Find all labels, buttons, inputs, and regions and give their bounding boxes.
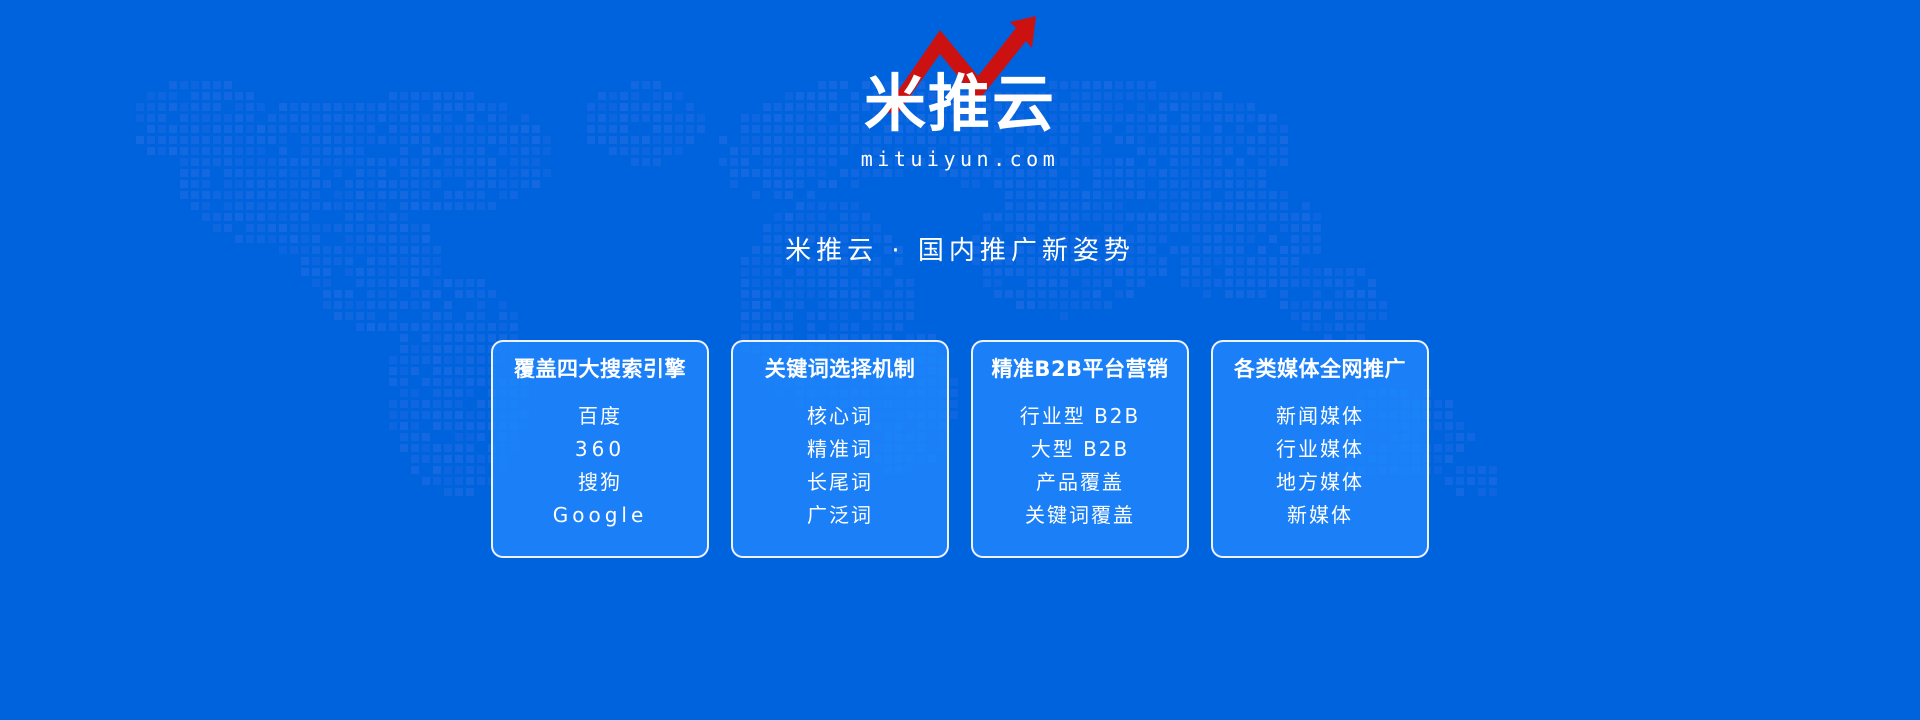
- feature-card-item-list: 新闻媒体行业媒体地方媒体新媒体: [1276, 403, 1364, 529]
- feature-card[interactable]: 覆盖四大搜索引擎百度360搜狗Google: [491, 340, 709, 558]
- feature-card-item: 地方媒体: [1276, 469, 1364, 496]
- logo-mark: 米推云 mituiyun.com: [830, 8, 1090, 173]
- feature-card-title: 覆盖四大搜索引擎: [514, 358, 686, 381]
- feature-card-item: Google: [553, 502, 648, 529]
- logo-block: 米推云 mituiyun.com: [0, 8, 1920, 173]
- feature-card[interactable]: 精准B2B平台营销行业型 B2B大型 B2B产品覆盖关键词覆盖: [971, 340, 1189, 558]
- feature-card-item: 新媒体: [1287, 502, 1353, 529]
- brand-name-cn: 米推云: [830, 73, 1090, 135]
- feature-card-item: 精准词: [807, 436, 873, 463]
- feature-card-item: 关键词覆盖: [1025, 502, 1135, 529]
- feature-card-item-list: 百度360搜狗Google: [553, 403, 648, 529]
- feature-card-item: 新闻媒体: [1276, 403, 1364, 430]
- feature-card[interactable]: 各类媒体全网推广新闻媒体行业媒体地方媒体新媒体: [1211, 340, 1429, 558]
- tagline: 米推云 · 国内推广新姿势: [0, 230, 1920, 267]
- feature-card-item: 360: [575, 436, 625, 463]
- feature-card-title: 各类媒体全网推广: [1234, 358, 1406, 381]
- promo-banner: 米推云 mituiyun.com 米推云 · 国内推广新姿势 覆盖四大搜索引擎百…: [0, 0, 1920, 720]
- feature-card-item: 行业媒体: [1276, 436, 1364, 463]
- feature-card-title: 关键词选择机制: [765, 358, 916, 381]
- feature-card-item: 大型 B2B: [1031, 436, 1130, 463]
- feature-card-title: 精准B2B平台营销: [991, 358, 1168, 381]
- feature-card-item-list: 核心词精准词长尾词广泛词: [807, 403, 873, 529]
- feature-card-item: 核心词: [807, 403, 873, 430]
- feature-card-item: 搜狗: [578, 469, 622, 496]
- brand-url: mituiyun.com: [830, 147, 1090, 171]
- feature-card-item: 广泛词: [807, 502, 873, 529]
- feature-card-item: 行业型 B2B: [1020, 403, 1141, 430]
- feature-card-row: 覆盖四大搜索引擎百度360搜狗Google关键词选择机制核心词精准词长尾词广泛词…: [0, 340, 1920, 558]
- feature-card-item-list: 行业型 B2B大型 B2B产品覆盖关键词覆盖: [1020, 403, 1141, 529]
- feature-card-item: 产品覆盖: [1036, 469, 1124, 496]
- feature-card-item: 长尾词: [807, 469, 873, 496]
- feature-card-item: 百度: [578, 403, 622, 430]
- feature-card[interactable]: 关键词选择机制核心词精准词长尾词广泛词: [731, 340, 949, 558]
